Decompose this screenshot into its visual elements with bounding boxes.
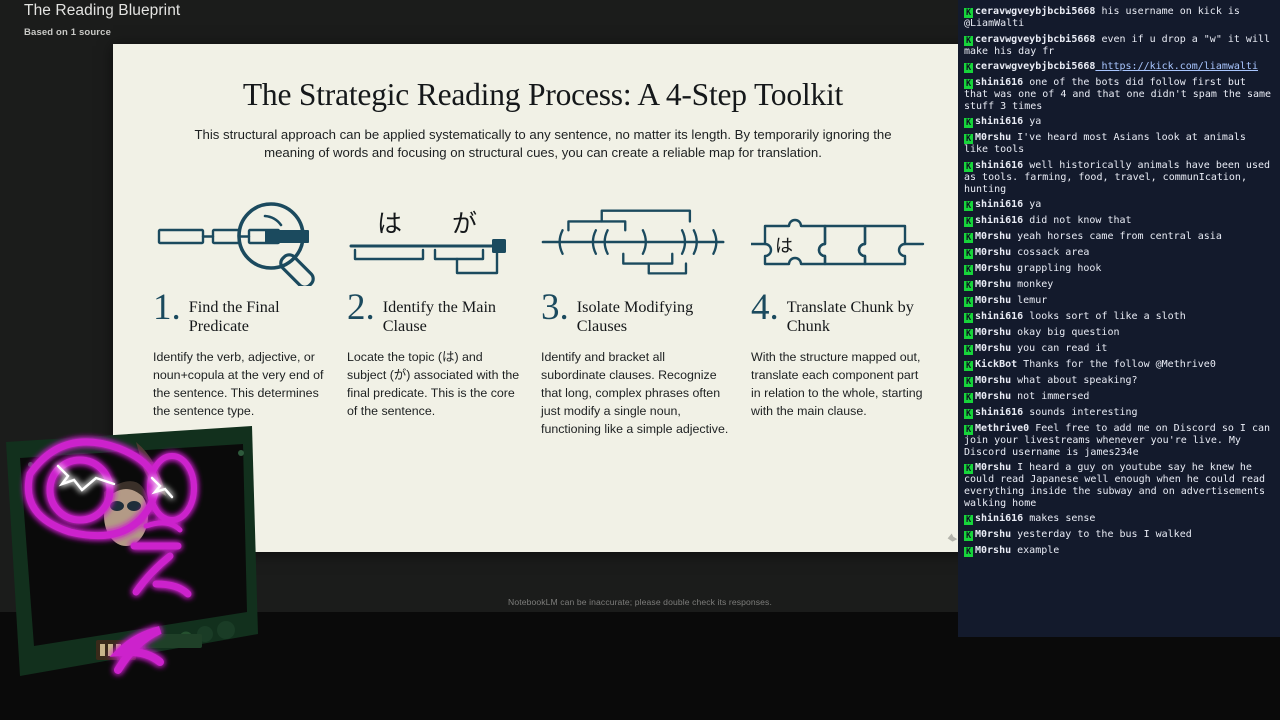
step-number: 2.	[347, 291, 375, 325]
kick-badge-icon: K	[964, 118, 973, 128]
step-name: Translate Chunk by Chunk	[787, 295, 927, 336]
chat-username[interactable]: shini616	[975, 160, 1023, 171]
chat-message[interactable]: KM0rshu what about speaking?	[961, 373, 1277, 389]
kick-badge-icon: K	[964, 409, 973, 419]
kick-badge-icon: K	[964, 377, 973, 387]
chat-username[interactable]: ceravwgveybjbcbi5668	[975, 34, 1095, 45]
kick-badge-icon: K	[964, 36, 973, 46]
chat-username[interactable]: shini616	[975, 407, 1023, 418]
chat-username[interactable]: M0rshu	[975, 375, 1011, 386]
webcam-overlay[interactable]	[0, 398, 268, 688]
kick-badge-icon: K	[964, 393, 973, 403]
chat-username[interactable]: shini616	[975, 116, 1023, 127]
chat-message-text: grappling hook	[1011, 263, 1101, 274]
chat-bottom-mask	[958, 637, 1280, 720]
infographic-subtitle: This structural approach can be applied …	[193, 126, 893, 163]
chat-username[interactable]: Methrive0	[975, 423, 1029, 434]
chat-message[interactable]: KM0rshu yesterday to the bus I walked	[961, 527, 1277, 543]
chat-username[interactable]: M0rshu	[975, 247, 1011, 258]
chat-username[interactable]: ceravwgveybjbcbi5668	[975, 61, 1095, 72]
chat-message-text: not immersed	[1011, 391, 1089, 402]
infographic-title: The Strategic Reading Process: A 4-Step …	[153, 78, 933, 113]
chat-message[interactable]: KM0rshu lemur	[961, 293, 1277, 309]
page-title: The Reading Blueprint	[24, 2, 180, 20]
chat-message-text: you can read it	[1011, 343, 1107, 354]
chat-username[interactable]: shini616	[975, 513, 1023, 524]
step-name: Find the Final Predicate	[189, 295, 329, 336]
chat-username[interactable]: shini616	[975, 199, 1023, 210]
step-card-2: は が 2. Identify the Main Clause	[347, 197, 541, 438]
kick-badge-icon: K	[964, 329, 973, 339]
chat-username[interactable]: M0rshu	[975, 462, 1011, 473]
step-heading-1: 1. Find the Final Predicate	[153, 295, 329, 336]
chat-message-text: ya	[1023, 116, 1041, 127]
chat-username[interactable]: M0rshu	[975, 263, 1011, 274]
chat-message[interactable]: Kshini616 ya	[961, 114, 1277, 130]
step-body: Locate the topic (は) and subject (が) ass…	[347, 348, 523, 420]
chat-message[interactable]: Kshini616 ya	[961, 197, 1277, 213]
kick-badge-icon: K	[964, 249, 973, 259]
kick-badge-icon: K	[964, 79, 973, 89]
step-name: Identify the Main Clause	[383, 295, 523, 336]
chat-message[interactable]: KM0rshu example	[961, 543, 1277, 559]
steps-row: 1. Find the Final Predicate Identify the…	[153, 197, 933, 438]
chat-message[interactable]: KM0rshu okay big question	[961, 325, 1277, 341]
chat-message[interactable]: Kshini616 sounds interesting	[961, 405, 1277, 421]
chat-message-text: monkey	[1011, 279, 1053, 290]
kick-badge-icon: K	[964, 8, 973, 18]
chat-username[interactable]: KickBot	[975, 359, 1017, 370]
step-heading-3: 3. Isolate Modifying Clauses	[541, 295, 733, 336]
chat-username[interactable]: ceravwgveybjbcbi5668	[975, 6, 1095, 17]
kick-badge-icon: K	[964, 162, 973, 172]
chat-message-text: yeah horses came from central asia	[1011, 231, 1222, 242]
kick-badge-icon: K	[964, 313, 973, 323]
source-count-label: Based on 1 source	[24, 27, 180, 38]
notebook-header: The Reading Blueprint Based on 1 source	[24, 2, 180, 38]
step-body: Identify and bracket all subordinate cla…	[541, 348, 733, 439]
kick-badge-icon: K	[964, 345, 973, 355]
step-body: With the structure mapped out, translate…	[751, 348, 927, 420]
chat-username[interactable]: M0rshu	[975, 545, 1011, 556]
chat-username[interactable]: M0rshu	[975, 132, 1011, 143]
kick-badge-icon: K	[964, 464, 973, 474]
chat-message[interactable]: KM0rshu monkey	[961, 277, 1277, 293]
chat-message-text: lemur	[1011, 295, 1047, 306]
particle-wa-glyph: は	[377, 209, 402, 238]
chat-message-text: cossack area	[1011, 247, 1089, 258]
step-heading-2: 2. Identify the Main Clause	[347, 295, 523, 336]
chat-username[interactable]: M0rshu	[975, 231, 1011, 242]
chat-message[interactable]: KKickBot Thanks for the follow @Methrive…	[961, 357, 1277, 373]
kick-badge-icon: K	[964, 531, 973, 541]
kick-badge-icon: K	[964, 201, 973, 211]
step-heading-4: 4. Translate Chunk by Chunk	[751, 295, 927, 336]
puzzle-chunks-icon: は	[751, 197, 927, 289]
chat-message-text: ya	[1023, 199, 1041, 210]
magnifier-sentence-icon	[153, 197, 329, 289]
chat-message-text: looks sort of like a sloth	[1023, 311, 1186, 322]
chat-message[interactable]: KM0rshu cossack area	[961, 245, 1277, 261]
chat-message[interactable]: Kshini616 did not know that	[961, 213, 1277, 229]
kick-badge-icon: K	[964, 265, 973, 275]
kick-chat-panel[interactable]: Kceravwgveybjbcbi5668 his username on ki…	[958, 0, 1280, 637]
chat-message[interactable]: Kshini616 well historically animals have…	[961, 158, 1277, 197]
topic-subject-diagram-icon: は が	[347, 197, 523, 289]
kick-badge-icon: K	[964, 425, 973, 435]
step-number: 1.	[153, 291, 181, 325]
chat-username[interactable]: shini616	[975, 215, 1023, 226]
chat-message[interactable]: Kshini616 one of the bots did follow fir…	[961, 75, 1277, 114]
kick-badge-icon: K	[964, 297, 973, 307]
puzzle-particle-glyph: は	[775, 236, 793, 257]
chat-message[interactable]: KM0rshu I've heard most Asians look at a…	[961, 130, 1277, 158]
kick-badge-icon: K	[964, 134, 973, 144]
chat-message-text: okay big question	[1011, 327, 1119, 338]
chat-message-text: did not know that	[1023, 215, 1131, 226]
chat-username[interactable]: M0rshu	[975, 529, 1011, 540]
chat-username[interactable]: M0rshu	[975, 279, 1011, 290]
kick-badge-icon: K	[964, 281, 973, 291]
chat-username[interactable]: M0rshu	[975, 391, 1011, 402]
chat-message[interactable]: KM0rshu I heard a guy on youtube say he …	[961, 460, 1277, 511]
chat-message[interactable]: KM0rshu grappling hook	[961, 261, 1277, 277]
kick-badge-icon: K	[964, 515, 973, 525]
kick-badge-icon: K	[964, 63, 973, 73]
chat-username[interactable]: shini616	[975, 311, 1023, 322]
kick-badge-icon: K	[964, 217, 973, 227]
chat-message[interactable]: Kceravwgveybjbcbi5668 his username on ki…	[961, 4, 1277, 32]
chat-message[interactable]: KMethrive0 Feel free to add me on Discor…	[961, 421, 1277, 460]
chat-message-text: makes sense	[1023, 513, 1095, 524]
chat-message-text: yesterday to the bus I walked	[1011, 529, 1192, 540]
chat-message-text: example	[1011, 545, 1059, 556]
step-number: 4.	[751, 291, 779, 325]
chat-message-text: what about speaking?	[1011, 375, 1137, 386]
step-number: 3.	[541, 291, 569, 325]
kick-badge-icon: K	[964, 233, 973, 243]
particle-ga-glyph: が	[452, 209, 477, 238]
step-card-4: は 4. Translate Chunk by Chunk With the s…	[751, 197, 945, 438]
chat-message-text: Thanks for the follow @Methrive0	[1017, 359, 1216, 370]
kick-badge-icon: K	[964, 547, 973, 557]
chat-message[interactable]: Kceravwgveybjbcbi5668 https://kick.com/l…	[961, 59, 1277, 75]
chat-message[interactable]: Kshini616 looks sort of like a sloth	[961, 309, 1277, 325]
chat-message[interactable]: KM0rshu yeah horses came from central as…	[961, 229, 1277, 245]
chat-message-text: sounds interesting	[1023, 407, 1137, 418]
kick-badge-icon: K	[964, 361, 973, 371]
step-card-3: 3. Isolate Modifying Clauses Identify an…	[541, 197, 751, 438]
chat-message[interactable]: Kceravwgveybjbcbi5668 even if u drop a "…	[961, 32, 1277, 60]
step-name: Isolate Modifying Clauses	[577, 295, 733, 336]
chat-username[interactable]: M0rshu	[975, 343, 1011, 354]
chat-message[interactable]: KM0rshu you can read it	[961, 341, 1277, 357]
nested-parentheses-icon	[541, 197, 733, 289]
chat-message[interactable]: KM0rshu not immersed	[961, 389, 1277, 405]
chat-message-link[interactable]: https://kick.com/liamwalti	[1095, 61, 1258, 72]
chat-username[interactable]: shini616	[975, 77, 1023, 88]
chat-message[interactable]: Kshini616 makes sense	[961, 511, 1277, 527]
chat-username[interactable]: M0rshu	[975, 327, 1011, 338]
chat-username[interactable]: M0rshu	[975, 295, 1011, 306]
